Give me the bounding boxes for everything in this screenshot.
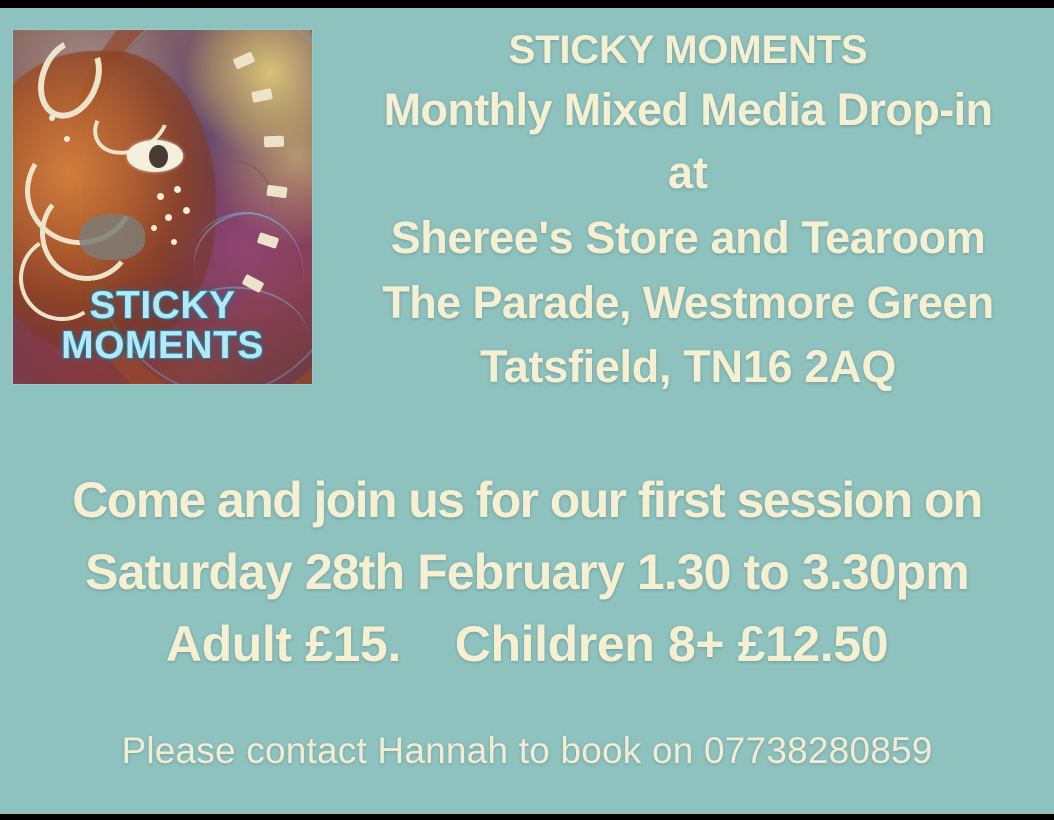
venue-street: The Parade, Westmore Green <box>322 271 1054 335</box>
logo-title-line-1: STICKY <box>89 284 235 327</box>
body-text-block: Come and join us for our first session o… <box>0 464 1054 680</box>
cheek-dot <box>64 136 70 142</box>
invite-line: Come and join us for our first session o… <box>0 464 1054 536</box>
logo-title: STICKY MOMENTS <box>13 286 312 366</box>
header-text-block: STICKY MOMENTS Monthly Mixed Media Drop-… <box>322 24 1054 399</box>
sticky-moments-logo: STICKY MOMENTS <box>13 30 312 384</box>
contact-line: Please contact Hannah to book on 0773828… <box>0 730 1054 772</box>
venue-name: Sheree's Store and Tearoom <box>322 205 1054 270</box>
letterbox-bottom-bar <box>0 814 1054 820</box>
cheek-dot <box>49 115 55 121</box>
letterbox-top-bar <box>0 0 1054 8</box>
cheek-dot <box>151 225 157 231</box>
logo-title-line-2: MOMENTS <box>61 324 264 367</box>
poster-canvas: STICKY MOMENTS STICKY MOMENTS Monthly Mi… <box>0 0 1054 820</box>
brand-title: STICKY MOMENTS <box>322 24 1054 78</box>
creature-pupil <box>149 145 168 168</box>
comb-mark <box>266 184 287 198</box>
prices-line: Adult £15. Children 8+ £12.50 <box>0 608 1054 680</box>
cheek-dot <box>157 193 164 200</box>
creature-snout-shape <box>79 214 145 260</box>
comb-mark <box>264 136 284 148</box>
date-time-line: Saturday 28th February 1.30 to 3.30pm <box>0 536 1054 608</box>
at-connector: at <box>322 141 1054 206</box>
event-subtitle: Monthly Mixed Media Drop-in <box>322 78 1054 141</box>
venue-town-postcode: Tatsfield, TN16 2AQ <box>322 335 1054 400</box>
